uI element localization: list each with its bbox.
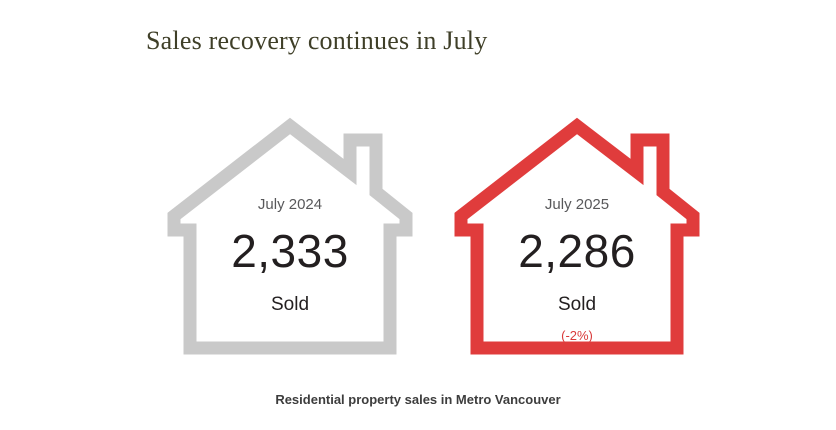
house-figure-july-2025: July 2025 2,286 Sold (-2%) <box>447 112 707 362</box>
house-figure-july-2024: July 2024 2,333 Sold <box>160 112 420 362</box>
house-status-label: Sold <box>447 294 707 316</box>
house-status-label: Sold <box>160 294 420 316</box>
chart-caption: Residential property sales in Metro Vanc… <box>0 392 836 407</box>
house-value-label: 2,286 <box>447 224 707 278</box>
house-labels: July 2024 2,333 Sold <box>160 112 420 362</box>
house-comparison-group: July 2024 2,333 Sold July 2025 2,286 Sol… <box>0 108 836 370</box>
page-title: Sales recovery continues in July <box>146 26 487 56</box>
house-labels: July 2025 2,286 Sold (-2%) <box>447 112 707 362</box>
house-change-label: (-2%) <box>447 328 707 343</box>
house-period-label: July 2025 <box>447 196 707 213</box>
house-period-label: July 2024 <box>160 196 420 213</box>
house-value-label: 2,333 <box>160 224 420 278</box>
